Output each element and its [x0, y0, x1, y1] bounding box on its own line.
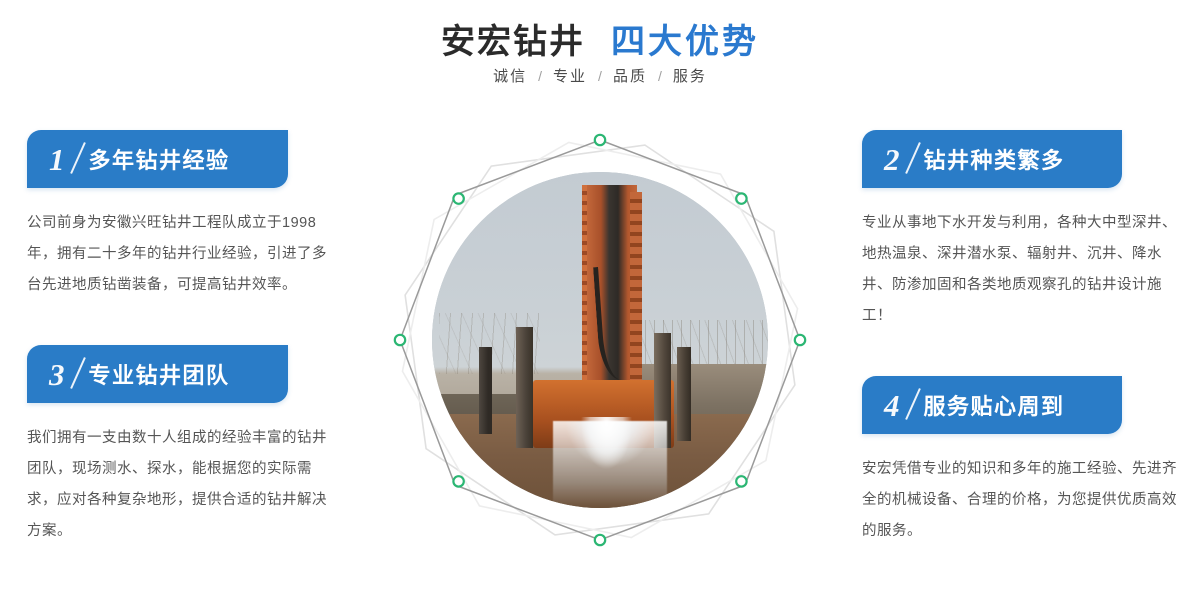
vertex-markers — [370, 110, 830, 570]
page-root: 安宏钻井 四大优势 诚信/专业/品质/服务 1多年钻井经验公司前身为安徽兴旺钻井… — [0, 0, 1200, 600]
feature-banner[interactable]: 1多年钻井经验 — [27, 130, 288, 188]
feature-number-badge: 4 — [884, 390, 916, 421]
title-brand: 安宏钻井 — [441, 14, 585, 63]
subtitle-item-3: 品质 — [613, 65, 647, 86]
polygon-vertex-marker — [795, 335, 805, 345]
subtitle-item-1: 诚信 — [493, 65, 527, 86]
feature-title: 专业钻井团队 — [89, 358, 230, 390]
feature-description: 我们拥有一支由数十人组成的经验丰富的钻井团队，现场测水、探水，能根据您的实际需求… — [27, 423, 335, 547]
subtitle-item-2: 专业 — [553, 65, 587, 86]
polygon-vertex-marker — [736, 193, 746, 203]
feature-title: 多年钻井经验 — [89, 143, 230, 175]
subtitle-separator: / — [538, 68, 542, 84]
feature-description: 安宏凭借专业的知识和多年的施工经验、先进齐全的机械设备、合理的价格，为您提供优质… — [862, 454, 1178, 547]
polygon-vertex-marker — [595, 535, 605, 545]
feature-banner[interactable]: 4服务贴心周到 — [862, 376, 1122, 434]
feature-banner[interactable]: 3专业钻井团队 — [27, 345, 288, 403]
features-column-left: 1多年钻井经验公司前身为安徽兴旺钻井工程队成立于1998年，拥有二十多年的钻井行… — [0, 130, 360, 547]
polygon-vertex-marker — [453, 193, 463, 203]
feature-number-badge: 3 — [49, 359, 81, 390]
feature-description: 专业从事地下水开发与利用，各种大中型深井、地热温泉、深井潜水泵、辐射井、沉井、降… — [862, 208, 1178, 332]
polygon-vertex-marker — [736, 476, 746, 486]
polygon-vertex-marker — [595, 135, 605, 145]
feature-banner[interactable]: 2钻井种类繁多 — [862, 130, 1122, 188]
page-title: 安宏钻井 四大优势 — [0, 14, 1200, 63]
feature-card[interactable]: 3专业钻井团队我们拥有一支由数十人组成的经验丰富的钻井团队，现场测水、探水，能根… — [0, 345, 360, 547]
subtitle-separator: / — [658, 68, 662, 84]
feature-card[interactable]: 4服务贴心周到安宏凭借专业的知识和多年的施工经验、先进齐全的机械设备、合理的价格… — [840, 376, 1200, 547]
polygon-vertex-marker — [453, 476, 463, 486]
center-graphic — [370, 110, 830, 570]
subtitle-item-4: 服务 — [673, 65, 707, 86]
title-highlight: 四大优势 — [611, 14, 759, 63]
subtitle-list: 诚信/专业/品质/服务 — [0, 65, 1200, 86]
polygon-vertex-marker — [395, 335, 405, 345]
feature-title: 服务贴心周到 — [924, 389, 1065, 421]
feature-card[interactable]: 2钻井种类繁多专业从事地下水开发与利用，各种大中型深井、地热温泉、深井潜水泵、辐… — [840, 130, 1200, 332]
feature-number-badge: 2 — [884, 144, 916, 175]
page-header: 安宏钻井 四大优势 诚信/专业/品质/服务 — [0, 0, 1200, 110]
feature-number-badge: 1 — [49, 144, 81, 175]
feature-title: 钻井种类繁多 — [924, 143, 1065, 175]
subtitle-separator: / — [598, 68, 602, 84]
features-column-right: 2钻井种类繁多专业从事地下水开发与利用，各种大中型深井、地热温泉、深井潜水泵、辐… — [840, 130, 1200, 547]
feature-description: 公司前身为安徽兴旺钻井工程队成立于1998年，拥有二十多年的钻井行业经验，引进了… — [27, 208, 335, 301]
feature-card[interactable]: 1多年钻井经验公司前身为安徽兴旺钻井工程队成立于1998年，拥有二十多年的钻井行… — [0, 130, 360, 301]
